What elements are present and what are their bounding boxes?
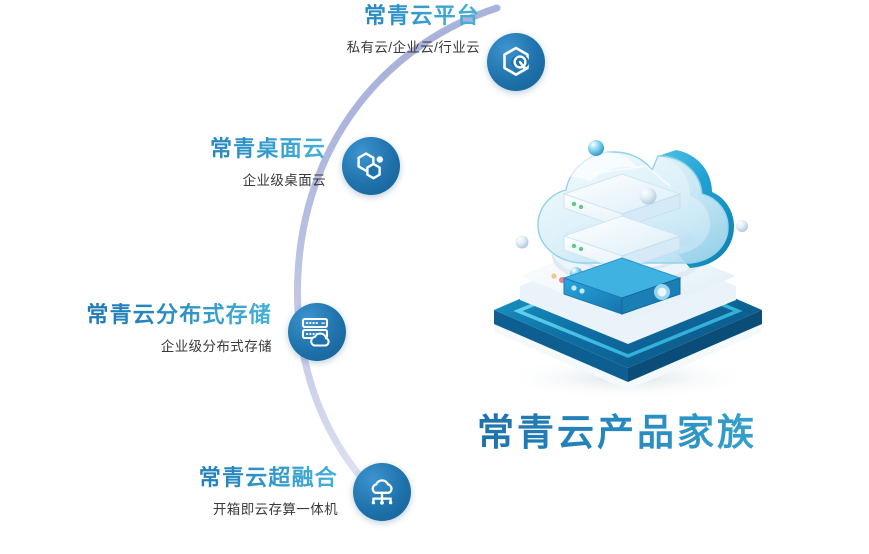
node-platform-text: 常青云平台 私有云/企业云/行业云 — [258, 4, 480, 56]
floating-orb — [640, 188, 657, 205]
node-storage-subtitle: 企业级分布式存储 — [40, 335, 272, 355]
node-storage-title: 常青云分布式存储 — [40, 303, 272, 327]
cloud-network-icon[interactable] — [353, 463, 411, 521]
node-desktop-title: 常青桌面云 — [110, 137, 326, 161]
node-hci-text: 常青云超融合 开箱即云存算一体机 — [130, 466, 338, 518]
node-desktop-text: 常青桌面云 企业级桌面云 — [110, 137, 326, 189]
page-title: 常青云产品家族 — [452, 402, 782, 456]
floating-orb — [736, 220, 748, 232]
product-family-infographic: 常青云平台 私有云/企业云/行业云 常青桌面云 企业级桌面云 — [0, 0, 869, 554]
floating-orb — [588, 140, 604, 156]
node-hci-subtitle: 开箱即云存算一体机 — [130, 498, 338, 518]
node-hci-title: 常青云超融合 — [130, 466, 338, 490]
node-storage-text: 常青云分布式存储 企业级分布式存储 — [40, 303, 272, 355]
server-cloud-icon[interactable] — [288, 303, 346, 361]
hexagon-nodes-icon[interactable] — [342, 137, 400, 195]
cloud-server-platform-3d-illustration — [470, 120, 780, 400]
node-desktop-subtitle: 企业级桌面云 — [110, 169, 326, 189]
server-stack — [564, 174, 680, 314]
hexagon-cloud-logo-icon[interactable] — [487, 33, 545, 91]
node-platform-subtitle: 私有云/企业云/行业云 — [258, 36, 480, 56]
floating-orb — [516, 236, 529, 249]
node-platform-title: 常青云平台 — [258, 4, 480, 28]
